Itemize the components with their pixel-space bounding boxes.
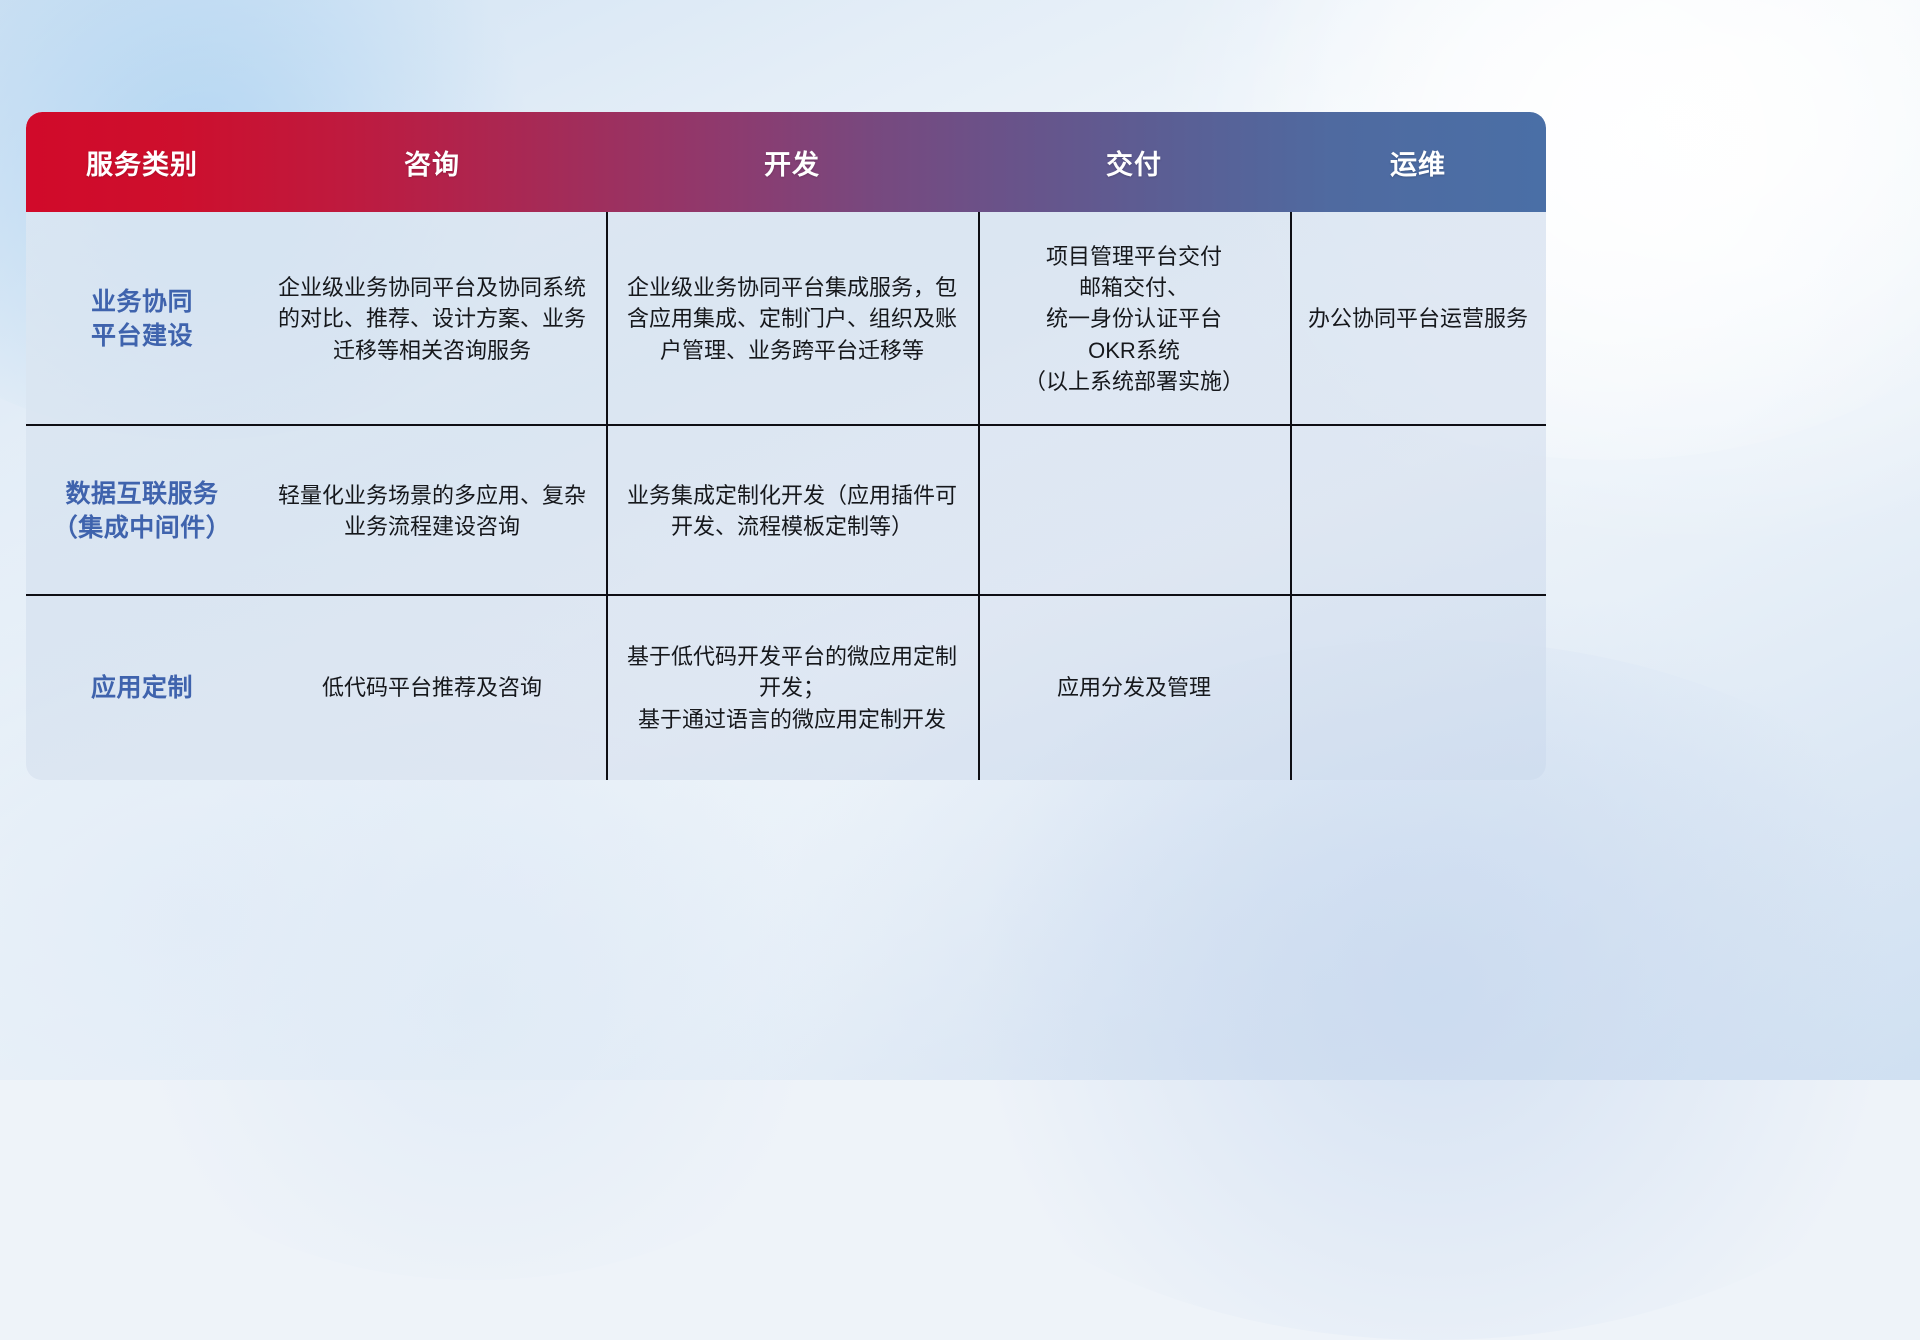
table-header-row: 服务类别 咨询 开发 交付 运维 — [26, 112, 1546, 212]
column-header-delivery: 交付 — [978, 112, 1290, 212]
page-canvas: 服务类别 咨询 开发 交付 运维 业务协同 平台建设 企业级业务协同平台及协同系… — [0, 0, 1920, 1080]
cell-delivery: 应用分发及管理 — [978, 596, 1290, 780]
cell-operations — [1290, 426, 1546, 596]
row-category-label: 数据互联服务 （集成中间件） — [53, 477, 232, 546]
cell-text: 企业级业务协同平台集成服务，包含应用集成、定制门户、组织及账户管理、业务跨平台迁… — [618, 272, 966, 366]
column-header-category: 服务类别 — [26, 112, 258, 212]
row-category-cell: 应用定制 — [26, 596, 258, 780]
cell-consulting: 低代码平台推荐及咨询 — [258, 596, 606, 780]
row-category-label: 业务协同 平台建设 — [91, 285, 193, 354]
cell-development: 基于低代码开发平台的微应用定制开发； 基于通过语言的微应用定制开发 — [606, 596, 978, 780]
cell-operations: 办公协同平台运营服务 — [1290, 212, 1546, 426]
column-header-consulting: 咨询 — [258, 112, 606, 212]
cell-development: 业务集成定制化开发（应用插件可开发、流程模板定制等） — [606, 426, 978, 596]
column-header-operations: 运维 — [1290, 112, 1546, 212]
cell-operations — [1290, 596, 1546, 780]
cell-consulting: 轻量化业务场景的多应用、复杂业务流程建设咨询 — [258, 426, 606, 596]
service-matrix-table: 服务类别 咨询 开发 交付 运维 业务协同 平台建设 企业级业务协同平台及协同系… — [26, 112, 1546, 780]
cell-text: 低代码平台推荐及咨询 — [322, 672, 542, 703]
row-category-cell: 业务协同 平台建设 — [26, 212, 258, 426]
cell-text: 应用分发及管理 — [1057, 672, 1211, 703]
cell-consulting: 企业级业务协同平台及协同系统的对比、推荐、设计方案、业务迁移等相关咨询服务 — [258, 212, 606, 426]
background-glow-bottom-left — [77, 720, 877, 1280]
cell-delivery: 项目管理平台交付 邮箱交付、 统一身份认证平台 OKR系统 （以上系统部署实施） — [978, 212, 1290, 426]
row-category-label: 应用定制 — [91, 671, 193, 706]
cell-delivery — [978, 426, 1290, 596]
cell-text: 轻量化业务场景的多应用、复杂业务流程建设咨询 — [270, 480, 594, 542]
table-row: 业务协同 平台建设 企业级业务协同平台及协同系统的对比、推荐、设计方案、业务迁移… — [26, 212, 1546, 426]
table-row: 应用定制 低代码平台推荐及咨询 基于低代码开发平台的微应用定制开发； 基于通过语… — [26, 596, 1546, 780]
column-header-development: 开发 — [606, 112, 978, 212]
cell-development: 企业级业务协同平台集成服务，包含应用集成、定制门户、组织及账户管理、业务跨平台迁… — [606, 212, 978, 426]
cell-text: 企业级业务协同平台及协同系统的对比、推荐、设计方案、业务迁移等相关咨询服务 — [270, 272, 594, 366]
cell-text: 基于低代码开发平台的微应用定制开发； 基于通过语言的微应用定制开发 — [618, 641, 966, 735]
cell-text: 业务集成定制化开发（应用插件可开发、流程模板定制等） — [618, 480, 966, 542]
table-row: 数据互联服务 （集成中间件） 轻量化业务场景的多应用、复杂业务流程建设咨询 业务… — [26, 426, 1546, 596]
cell-text: 项目管理平台交付 邮箱交付、 统一身份认证平台 OKR系统 （以上系统部署实施） — [1024, 241, 1244, 397]
cell-text: 办公协同平台运营服务 — [1308, 303, 1528, 334]
row-category-cell: 数据互联服务 （集成中间件） — [26, 426, 258, 596]
table-body: 业务协同 平台建设 企业级业务协同平台及协同系统的对比、推荐、设计方案、业务迁移… — [26, 212, 1546, 780]
